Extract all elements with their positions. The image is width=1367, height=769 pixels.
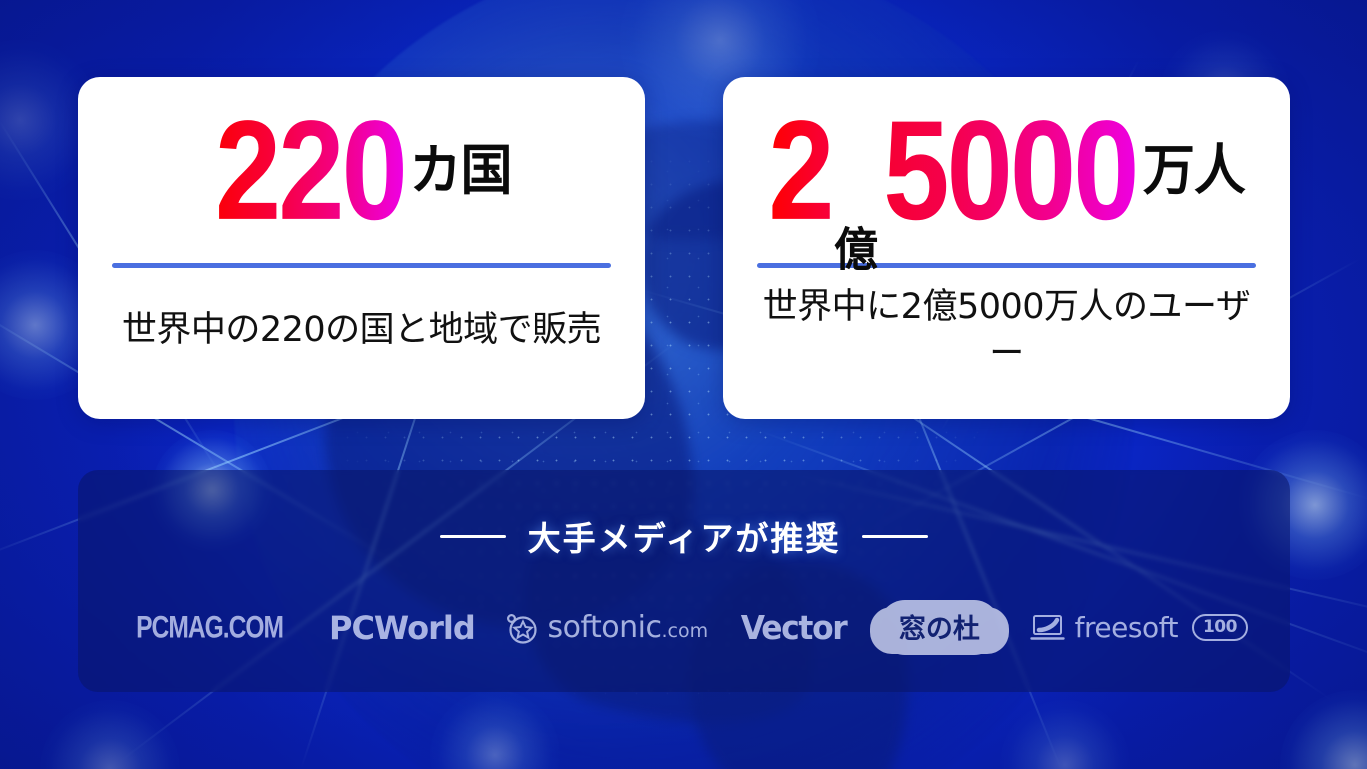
logo-pcmag[interactable]: PCMAG.COM [120,611,299,645]
stat-caption-countries: 世界中の220の国と地域で販売 [122,268,601,399]
stat-number-unit-oku: 億 [833,228,878,274]
logo-freesoft100[interactable]: freesoft 100 [1030,611,1248,644]
media-logo-row: PCMAG.COM PCWorld softonic.com Vector [78,600,1290,655]
logo-freesoft-label: freesoft [1075,611,1178,644]
stat-number-value: 5000 [883,100,1136,241]
logo-madonomori-label: 窓の杜 [879,600,1000,655]
stat-card-users: 2億5000万人 世界中に2億5000万人のユーザー [723,77,1290,419]
logo-vector-label: Vector [741,608,847,647]
stat-number-unit: 万人 [1142,144,1246,199]
stat-number-unit: カ国 [408,144,512,199]
logo-madonomori[interactable]: 窓の杜 [879,600,1000,655]
promo-banner: 220カ国 世界中の220の国と地域で販売 2億5000万人 世界中に2億500… [0,0,1367,769]
laptop-icon [1030,613,1066,643]
logo-softonic[interactable]: softonic.com [505,610,709,645]
softonic-star-icon [505,611,539,645]
stat-number-prefix: 2 [768,100,831,241]
stat-card-group: 220カ国 世界中の220の国と地域で販売 2億5000万人 世界中に2億500… [78,77,1290,419]
stat-number-value: 220 [215,100,405,241]
stat-number-users: 2億5000万人 [767,83,1246,259]
logo-pcworld-label: PCWorld [329,609,475,647]
media-heading-text: 大手メディアが推奨 [528,512,841,560]
stat-caption-users: 世界中に2億5000万人のユーザー [757,268,1256,399]
dash-left-icon [440,535,506,538]
media-heading: 大手メディアが推奨 [440,512,929,560]
logo-pcmag-label: PCMAG.COM [136,610,283,646]
logo-vector[interactable]: Vector [738,608,849,647]
logo-freesoft-badge: 100 [1192,614,1248,641]
stat-number-countries: 220カ国 [211,83,513,259]
stat-card-countries: 220カ国 世界中の220の国と地域で販売 [78,77,645,419]
logo-pcworld[interactable]: PCWorld [329,609,475,647]
dash-right-icon [862,535,928,538]
logo-softonic-label: softonic.com [548,610,709,645]
media-endorsement-panel: 大手メディアが推奨 PCMAG.COM PCWorld softonic.com [78,470,1290,692]
